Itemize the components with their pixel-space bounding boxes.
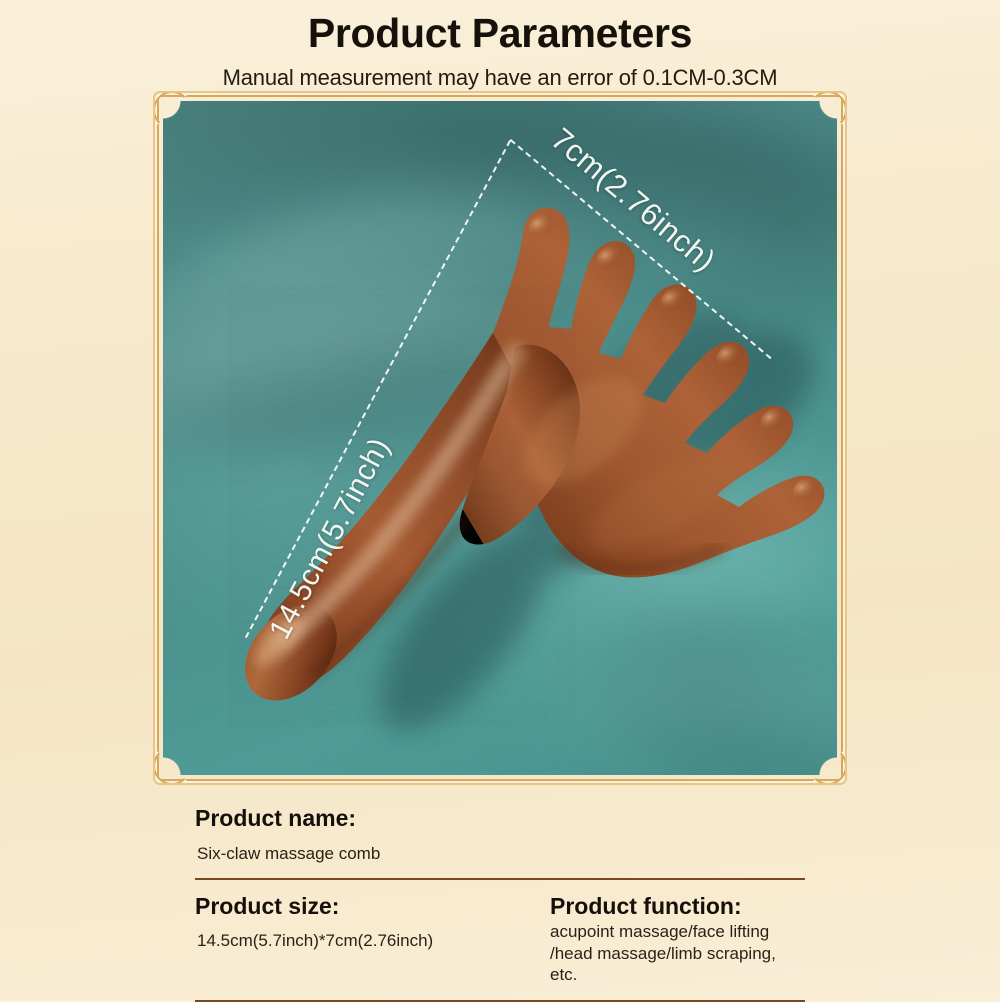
massage-comb-svg [163, 101, 837, 775]
page-subtitle: Manual measurement may have an error of … [223, 67, 778, 89]
spec-col-size: Product size: 14.5cm(5.7inch)*7cm(2.76in… [195, 894, 550, 986]
product-photo-frame: 7cm(2.76inch) 14.5cm(5.7inch) [157, 95, 843, 781]
page-title: Product Parameters [308, 13, 692, 54]
spec-row-name: Product name: Six-claw massage comb [195, 806, 805, 864]
product-size-value: 14.5cm(5.7inch)*7cm(2.76inch) [197, 930, 550, 951]
product-function-value-line1: acupoint massage/face lifting [550, 921, 805, 942]
spec-row-size-function: Product size: 14.5cm(5.7inch)*7cm(2.76in… [195, 894, 805, 986]
spec-col-function: Product function: acupoint massage/face … [550, 894, 805, 986]
product-photo: 7cm(2.76inch) 14.5cm(5.7inch) [163, 101, 837, 775]
product-function-label: Product function: [550, 894, 805, 920]
product-function-value-line2: /head massage/limb scraping, etc. [550, 943, 805, 986]
product-name-label: Product name: [195, 806, 805, 832]
product-size-label: Product size: [195, 894, 550, 920]
massage-comb-product [163, 101, 837, 775]
product-specs: Product name: Six-claw massage comb Prod… [195, 806, 805, 1002]
comb-body [227, 207, 826, 718]
header: Product Parameters Manual measurement ma… [0, 0, 1000, 96]
product-name-value: Six-claw massage comb [197, 843, 805, 864]
spec-divider-top [195, 878, 805, 880]
